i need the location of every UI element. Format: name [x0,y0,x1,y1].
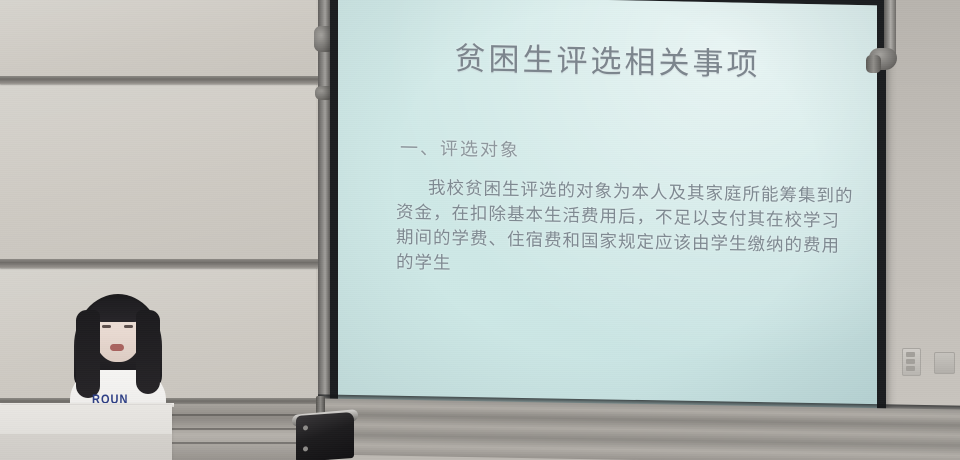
light-switch-rocker[interactable] [906,359,915,364]
pipe-stub-right [866,55,881,73]
board-rail-upper [0,76,318,84]
light-switch-rocker[interactable] [906,366,915,371]
projection-screen-frame: 贫困生评选相关事项 一、评选对象 我校贫困生评选的对象为本人及其家庭所能筹集到的… [330,0,886,424]
presenter-hair-right [136,310,160,394]
podium [0,405,172,460]
chair-backrest [296,412,354,460]
projection-screen-surface: 贫困生评选相关事项 一、评选对象 我校贫困生评选的对象为本人及其家庭所能筹集到的… [338,0,877,413]
screen-sill [318,398,960,460]
whiteboard-panel-middle [0,84,316,262]
light-switch-plate[interactable] [902,348,921,376]
presenter-mouth [110,344,124,351]
light-switch-rocker[interactable] [906,352,915,357]
classroom-photo: 贫困生评选相关事项 一、评选对象 我校贫困生评选的对象为本人及其家庭所能筹集到的… [0,0,960,460]
presenter-hair-left [76,310,100,398]
chair-screw [303,425,308,430]
slide-body: 我校贫困生评选的对象为本人及其家庭所能筹集到的 资金，在扣除基本生活费用后，不足… [396,176,851,285]
chair-screw [303,446,308,451]
board-rail-middle [0,259,318,268]
wall-outlet-plate[interactable] [934,352,955,374]
presenter-eye-left [102,325,111,328]
slide-title: 贫困生评选相关事项 [338,31,877,87]
slide-section-heading: 一、评选对象 [400,134,520,162]
presenter-eye-right [124,325,133,328]
whiteboard-panel-top [0,0,316,78]
presentation-slide: 贫困生评选相关事项 一、评选对象 我校贫困生评选的对象为本人及其家庭所能筹集到的… [338,0,877,413]
